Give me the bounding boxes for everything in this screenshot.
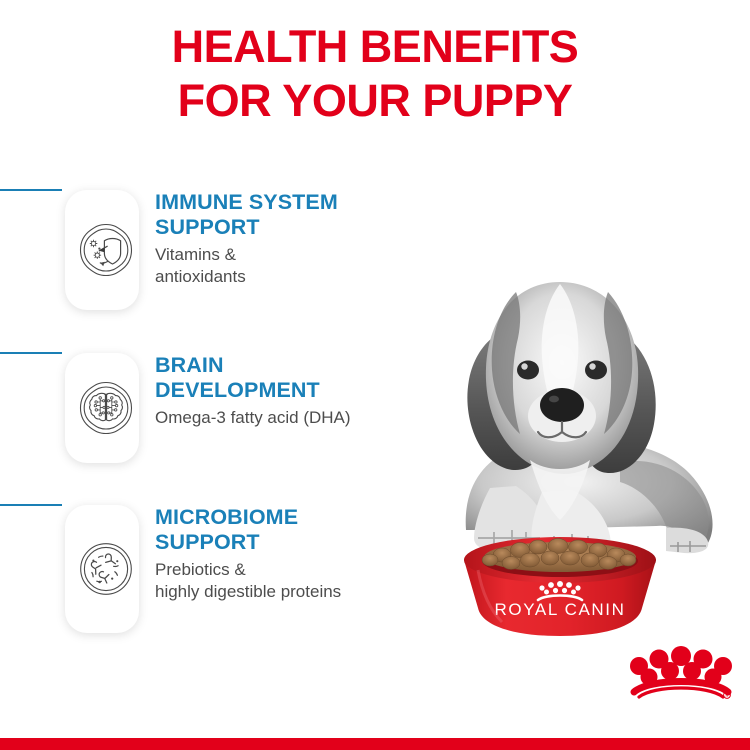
connector-line-2: [0, 352, 62, 354]
immune-shield-icon: [77, 221, 135, 279]
food-bowl: ROYAL CANIN: [464, 537, 656, 636]
benefit-icon-card-2: [65, 353, 139, 463]
benefit-heading-1-line1: IMMUNE SYSTEM: [155, 190, 338, 214]
puppy-photo: ROYAL CANIN: [370, 230, 750, 650]
benefit-heading-2-line2: DEVELOPMENT: [155, 378, 320, 402]
benefit-icon-card-3: [65, 505, 139, 633]
microbiome-bacteria-icon: [77, 540, 135, 598]
poster-canvas: HEALTH BENEFITS FOR YOUR PUPPY: [0, 0, 750, 750]
benefit-heading-3-line1: MICROBIOME: [155, 505, 298, 529]
svg-text:R: R: [726, 693, 729, 698]
benefit-icon-card-1: [65, 190, 139, 310]
bowl-wordmark: ROYAL CANIN: [495, 600, 626, 619]
royal-canin-crown-logo: R: [626, 640, 736, 702]
connector-line-3: [0, 504, 62, 506]
puppy-left-eye: [517, 361, 539, 380]
benefit-heading-1-line2: SUPPORT: [155, 215, 260, 239]
puppy-right-eye: [585, 361, 607, 380]
benefit-heading-2-line1: BRAIN: [155, 353, 224, 377]
benefits-list: IMMUNE SYSTEM SUPPORT Vitamins & antioxi…: [0, 0, 420, 750]
puppy-nose: [540, 388, 584, 422]
connector-line-1: [0, 189, 62, 191]
benefit-heading-3-line2: SUPPORT: [155, 530, 260, 554]
bottom-red-bar: [0, 738, 750, 750]
brain-icon: [77, 379, 135, 437]
